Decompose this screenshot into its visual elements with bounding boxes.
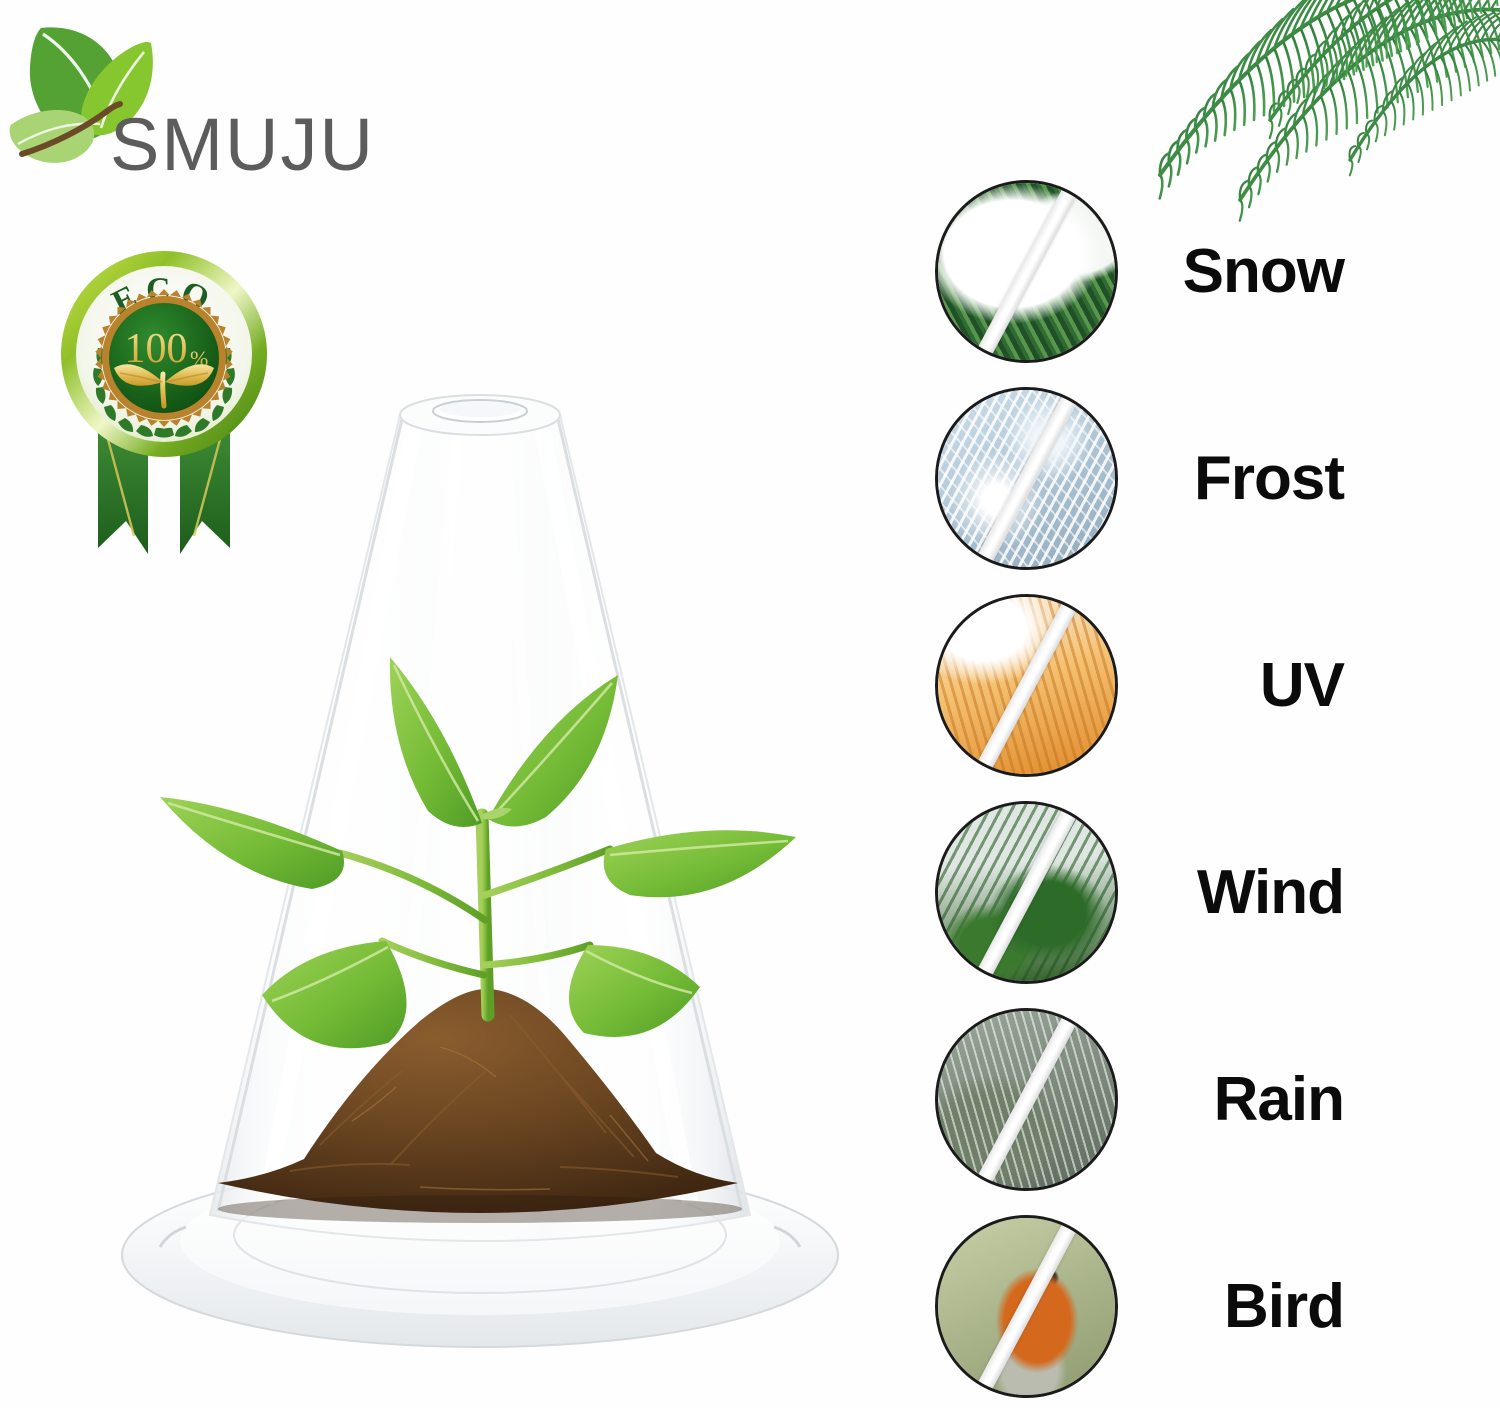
bird-photo-icon[interactable]: [935, 1215, 1118, 1398]
protection-feature-list: Snow Frost UV Wind Rain: [930, 180, 1360, 1405]
frost-photo-icon[interactable]: [935, 387, 1118, 570]
feature-row[interactable]: Snow: [930, 180, 1360, 366]
feature-label: UV: [1260, 594, 1344, 777]
feature-label: Wind: [1197, 801, 1344, 984]
plant-cloche-cover: [90, 375, 870, 1385]
snow-photo-icon[interactable]: [935, 180, 1118, 363]
feature-row[interactable]: Wind: [930, 801, 1360, 987]
feature-row[interactable]: UV: [930, 594, 1360, 780]
feature-label: Snow: [1183, 180, 1344, 363]
rain-photo-icon[interactable]: [935, 1008, 1118, 1191]
feature-label: Frost: [1194, 387, 1344, 570]
uv-photo-icon[interactable]: [935, 594, 1118, 777]
wind-photo-icon[interactable]: [935, 801, 1118, 984]
feature-label: Bird: [1224, 1215, 1344, 1398]
feature-row[interactable]: Rain: [930, 1008, 1360, 1194]
top-vent-hole: [400, 395, 560, 435]
brand-name: SMUJU: [110, 108, 375, 182]
product-marketing-image: SMUJU: [0, 0, 1500, 1408]
feature-row[interactable]: Frost: [930, 387, 1360, 573]
feature-label: Rain: [1214, 1008, 1344, 1191]
feature-row[interactable]: Bird: [930, 1215, 1360, 1401]
brand-logo: SMUJU: [8, 16, 388, 176]
